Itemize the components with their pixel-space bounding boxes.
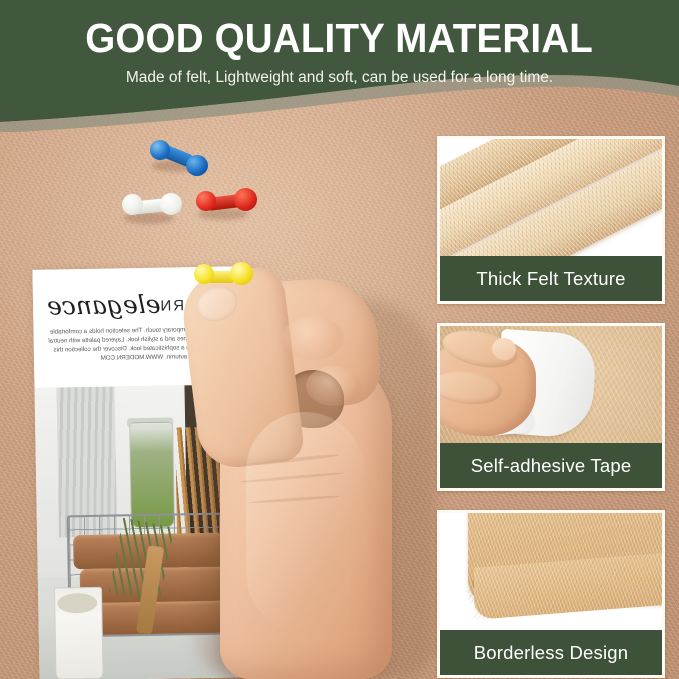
knuckle bbox=[306, 366, 362, 406]
feature-card-thick-felt-texture[interactable]: Thick Felt Texture bbox=[437, 136, 665, 304]
feature-card-label: Thick Felt Texture bbox=[440, 256, 662, 301]
pin-yellow bbox=[194, 262, 256, 296]
product-feature-image: 04 MODERN elegance rooms with a contempo… bbox=[0, 0, 679, 679]
pin-white bbox=[122, 190, 184, 230]
hand-highlight bbox=[246, 412, 364, 632]
hand-pressing-pin bbox=[186, 262, 436, 679]
feature-cards: Thick Felt Texture Self-adhesive Tape B bbox=[437, 136, 665, 679]
felt-corner-photo bbox=[440, 513, 662, 630]
feature-card-label: Borderless Design bbox=[440, 630, 662, 675]
page-subtitle: Made of felt, Lightweight and soft, can … bbox=[126, 68, 553, 88]
peeling-tape-photo bbox=[440, 326, 662, 443]
photo-pesto-jar bbox=[129, 422, 175, 529]
poster-script-word: elegance bbox=[47, 290, 161, 321]
pin-red bbox=[196, 186, 258, 226]
feature-card-label: Self-adhesive Tape bbox=[440, 443, 662, 488]
page-title: GOOD QUALITY MATERIAL bbox=[86, 16, 594, 61]
pin-blue bbox=[150, 140, 210, 180]
felt-layers-photo bbox=[440, 139, 662, 256]
knuckle bbox=[282, 316, 344, 360]
feature-card-borderless-design[interactable]: Borderless Design bbox=[437, 510, 665, 678]
feature-card-self-adhesive-tape[interactable]: Self-adhesive Tape bbox=[437, 323, 665, 491]
header-banner: GOOD QUALITY MATERIAL Made of felt, Ligh… bbox=[0, 0, 679, 132]
